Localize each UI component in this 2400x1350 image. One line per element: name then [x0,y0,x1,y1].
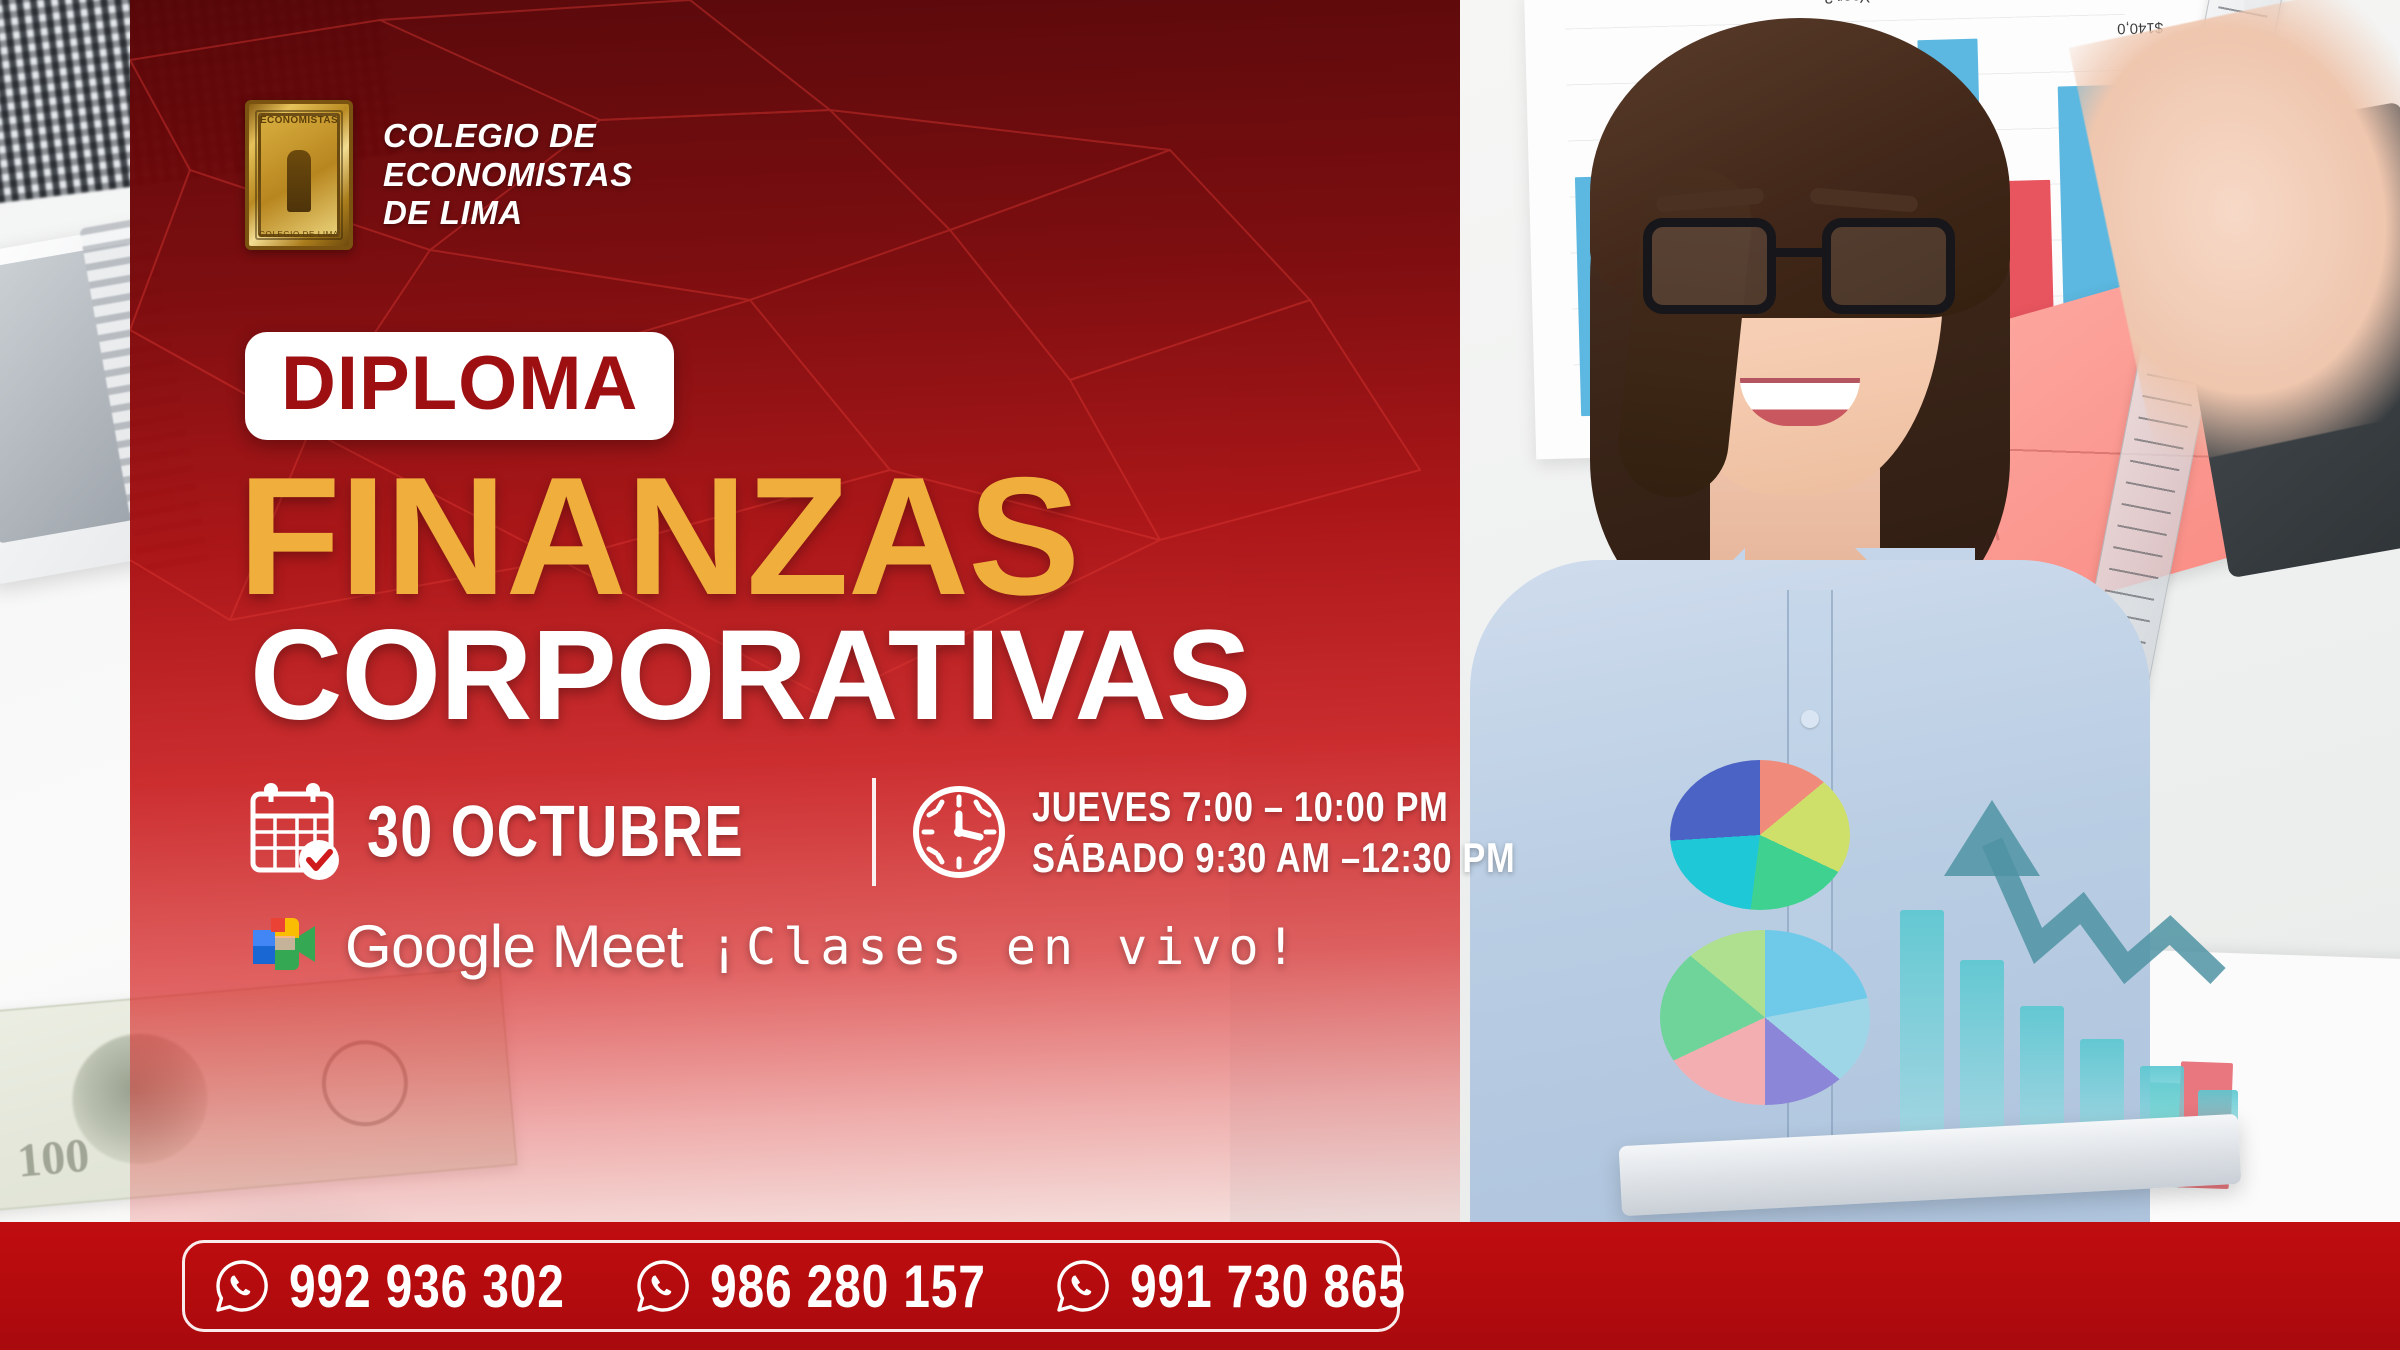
phone-number: 991 730 865 [1130,1252,1406,1321]
phone-number: 992 936 302 [289,1252,565,1321]
crest-top-text: ECONOMISTAS [249,115,349,126]
platform-row: Google Meet ¡Clases en vivo! [245,912,1303,981]
platform-name-google: Google [345,913,535,980]
org-line-2: ECONOMISTAS [383,156,633,195]
schedule-line-2: SÁBADO 9:30 AM –12:30 PM [1032,832,1515,883]
title-finanzas: FINANZAS [238,452,1079,620]
phone-number: 986 280 157 [710,1252,986,1321]
clock-icon [910,783,1008,881]
phone-numbers-box: 992 936 302986 280 157991 730 865 [182,1240,1400,1332]
title-corporativas: CORPORATIVAS [250,612,1250,740]
content-column: ECONOMISTAS COLEGIO DE LIMA COLEGIO DE E… [0,0,1460,1222]
phone-contact[interactable]: 992 936 302 [213,1252,634,1321]
phone-contact[interactable]: 991 730 865 [1054,1252,1475,1321]
organization-logo: ECONOMISTAS COLEGIO DE LIMA COLEGIO DE E… [245,100,633,250]
promo-banner: 100 $0$20,000$40,000$60,000$80,000$100,0… [0,0,2400,1350]
event-date: 30 OCTUBRE [367,791,744,873]
crest-bottom-text: COLEGIO DE LIMA [249,230,349,239]
whatsapp-icon [213,1257,271,1315]
whatsapp-icon [634,1257,692,1315]
live-classes-text: ¡Clases en vivo! [709,918,1303,976]
event-details-row: 30 OCTUBRE JUEVES 7: [245,762,1622,902]
whatsapp-icon [1054,1257,1112,1315]
vertical-divider [872,778,876,886]
contact-bar: 992 936 302986 280 157991 730 865 [0,1222,2400,1350]
platform-name-meet: Meet [552,913,683,980]
phone-contact[interactable]: 986 280 157 [634,1252,1055,1321]
diploma-label: DIPLOMA [281,346,638,422]
growth-arrow-icon [1900,780,2230,1080]
holographic-charts [1650,720,2250,1140]
org-line-3: DE LIMA [383,194,633,233]
diploma-badge: DIPLOMA [245,332,674,440]
organization-name: COLEGIO DE ECONOMISTAS DE LIMA [383,117,633,234]
eyeglasses-icon [1643,218,1955,314]
calendar-check-icon [245,780,341,884]
platform-name: Google Meet [345,912,683,981]
google-meet-icon [245,914,319,980]
schedule-line-1: JUEVES 7:00 – 10:00 PM [1032,781,1515,832]
colegio-crest-icon: ECONOMISTAS COLEGIO DE LIMA [245,100,353,250]
schedule-block: JUEVES 7:00 – 10:00 PM SÁBADO 9:30 AM –1… [1032,781,1621,883]
org-line-1: COLEGIO DE [383,117,633,156]
